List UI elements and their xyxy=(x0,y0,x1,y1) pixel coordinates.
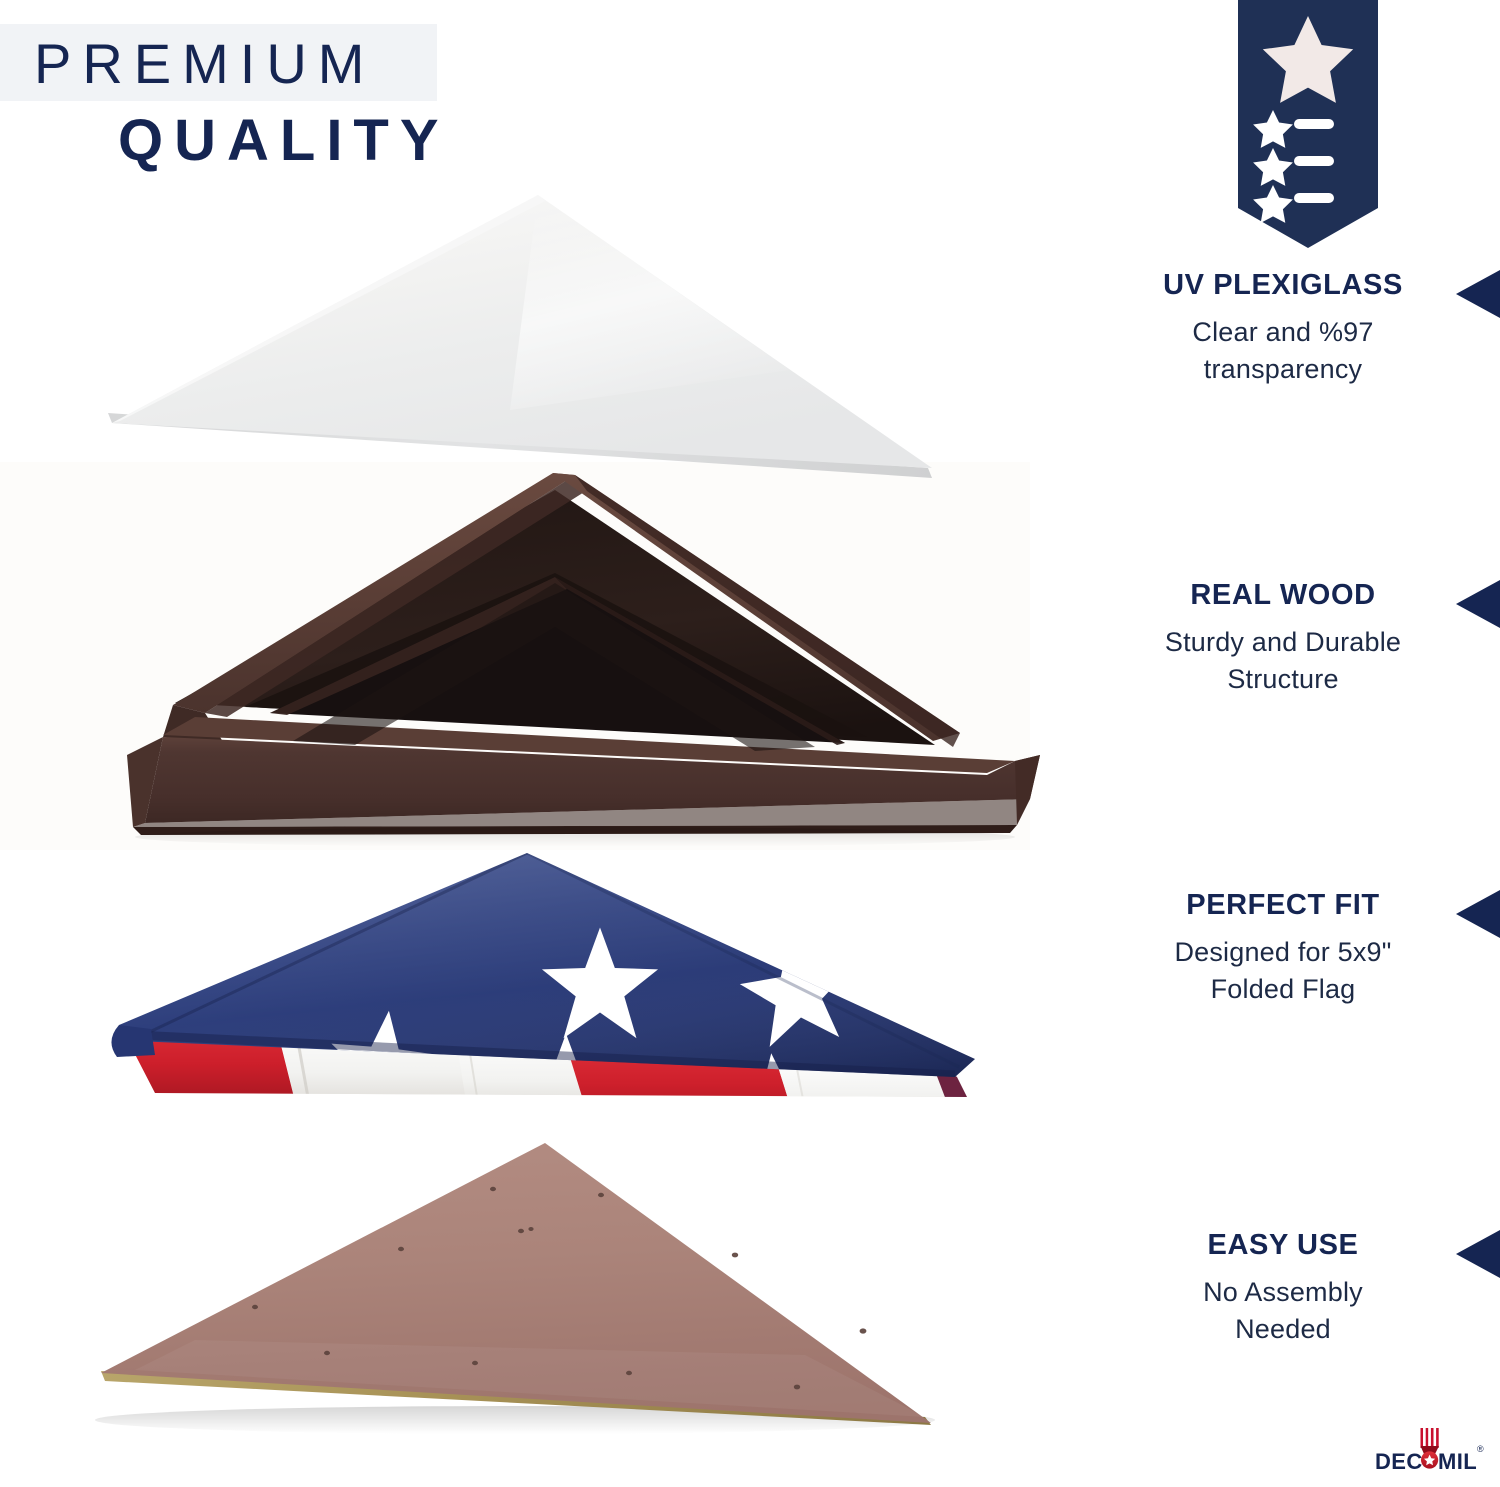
feature-easy-use: EASY USE No Assembly Needed xyxy=(1110,1228,1500,1348)
backing-board xyxy=(45,1125,1005,1455)
uv-plexiglass-panel xyxy=(90,185,1070,485)
feature-uv-plexiglass: UV PLEXIGLASS Clear and %97 transparency xyxy=(1110,268,1500,388)
logo-text-right: MIL xyxy=(1438,1449,1477,1474)
feature-description: Sturdy and Durable Structure xyxy=(1088,624,1478,698)
feature-description: Designed for 5x9" Folded Flag xyxy=(1088,934,1478,1008)
feature-title: PERFECT FIT xyxy=(1088,888,1478,922)
wood-frame xyxy=(55,455,1055,855)
product-exploded-view xyxy=(0,0,1070,1487)
folded-american-flag xyxy=(95,845,985,1135)
feature-real-wood: REAL WOOD Sturdy and Durable Structure xyxy=(1110,578,1500,698)
quality-ribbon-badge-icon xyxy=(1238,0,1378,255)
decomil-logo: DEC MIL ® xyxy=(1373,1412,1491,1474)
feature-description: Clear and %97 transparency xyxy=(1088,314,1478,388)
logo-trademark: ® xyxy=(1477,1444,1484,1454)
feature-title: REAL WOOD xyxy=(1088,578,1478,612)
feature-perfect-fit: PERFECT FIT Designed for 5x9" Folded Fla… xyxy=(1110,888,1500,1008)
logo-text-left: DEC xyxy=(1375,1449,1423,1474)
feature-description: No Assembly Needed xyxy=(1088,1274,1478,1348)
feature-title: UV PLEXIGLASS xyxy=(1088,268,1478,302)
feature-title: EASY USE xyxy=(1088,1228,1478,1262)
